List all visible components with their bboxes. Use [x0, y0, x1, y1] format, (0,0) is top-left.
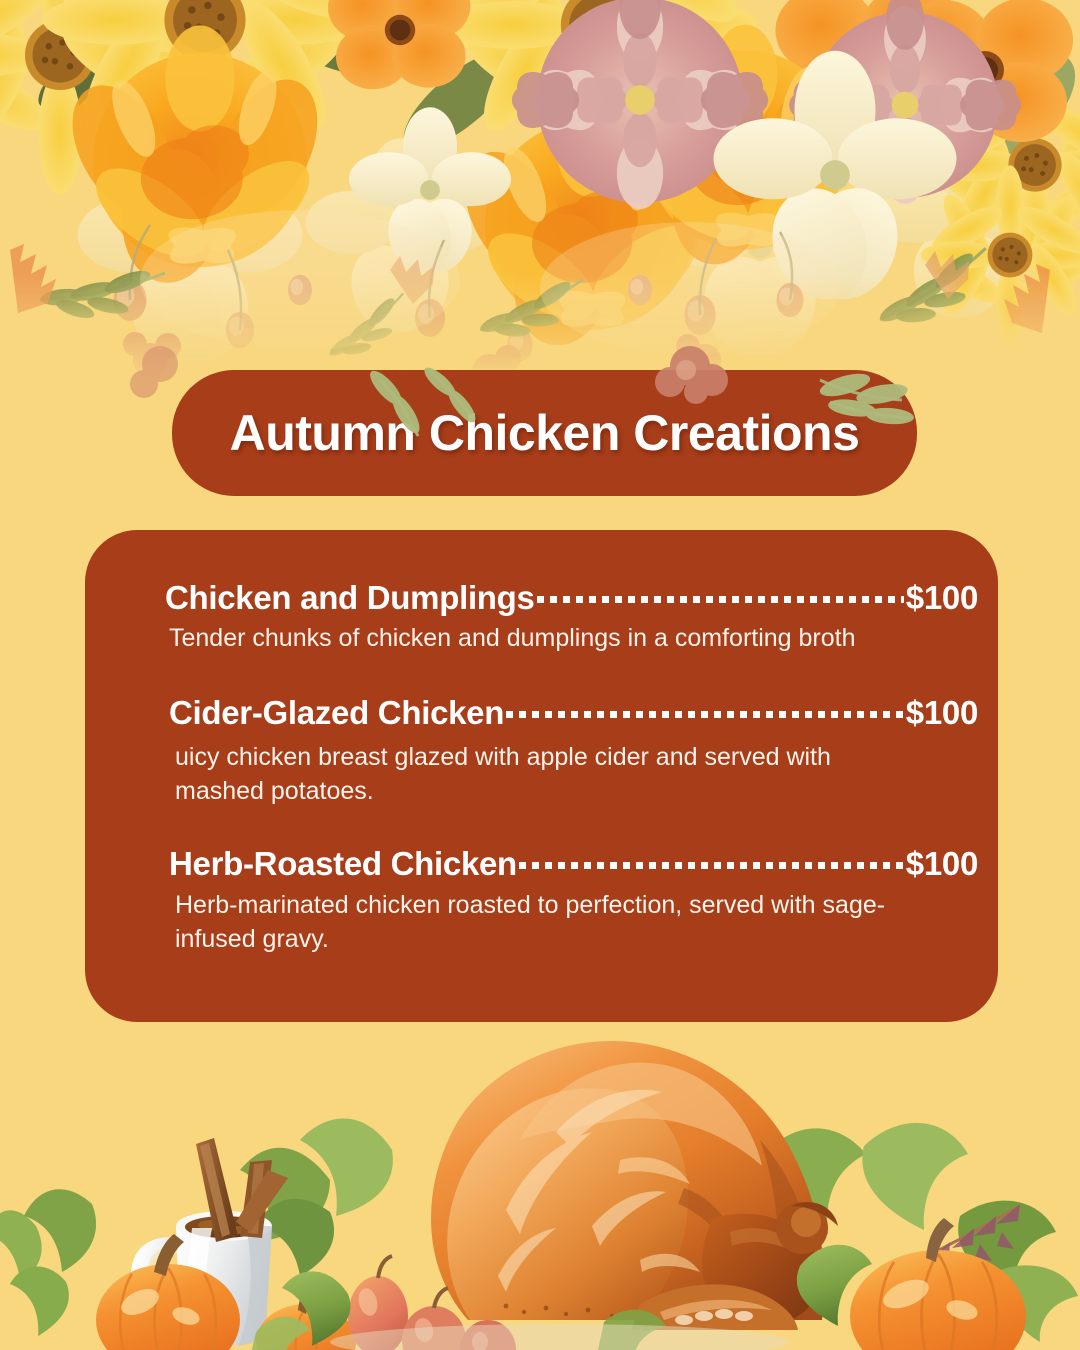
menu-item-heading: Cider-Glazed Chicken $100 — [169, 691, 978, 734]
dot-leader — [537, 576, 904, 609]
menu-item-name: Cider-Glazed Chicken — [169, 692, 504, 734]
roast-turkey — [431, 1041, 838, 1330]
title-banner: Autumn Chicken Creations — [172, 370, 917, 496]
page-title: Autumn Chicken Creations — [230, 408, 860, 458]
menu-item-price: $100 — [906, 692, 978, 734]
menu-item-description: Tender chunks of chicken and dumplings i… — [169, 622, 909, 655]
menu-item: Herb-Roasted Chicken $100 Herb-marinated… — [165, 842, 978, 956]
dot-leader — [519, 842, 904, 875]
menu-item: Cider-Glazed Chicken $100 uicy chicken b… — [165, 691, 978, 808]
menu-item-name: Chicken and Dumplings — [165, 577, 535, 619]
menu-item-price: $100 — [906, 843, 978, 885]
menu-item-heading: Herb-Roasted Chicken $100 — [169, 842, 978, 885]
menu-item-name: Herb-Roasted Chicken — [169, 843, 517, 885]
menu-item: Chicken and Dumplings $100 Tender chunks… — [165, 576, 978, 655]
menu-item-heading: Chicken and Dumplings $100 — [165, 576, 978, 619]
turkey-illustration — [0, 1020, 1080, 1350]
menu-item-price: $100 — [906, 577, 978, 619]
dot-leader — [506, 691, 904, 724]
menu-panel: Chicken and Dumplings $100 Tender chunks… — [85, 530, 998, 1022]
floral-header-decoration — [0, 0, 1080, 380]
menu-item-description: uicy chicken breast glazed with apple ci… — [175, 741, 915, 808]
menu-item-description: Herb-marinated chicken roasted to perfec… — [175, 889, 915, 956]
